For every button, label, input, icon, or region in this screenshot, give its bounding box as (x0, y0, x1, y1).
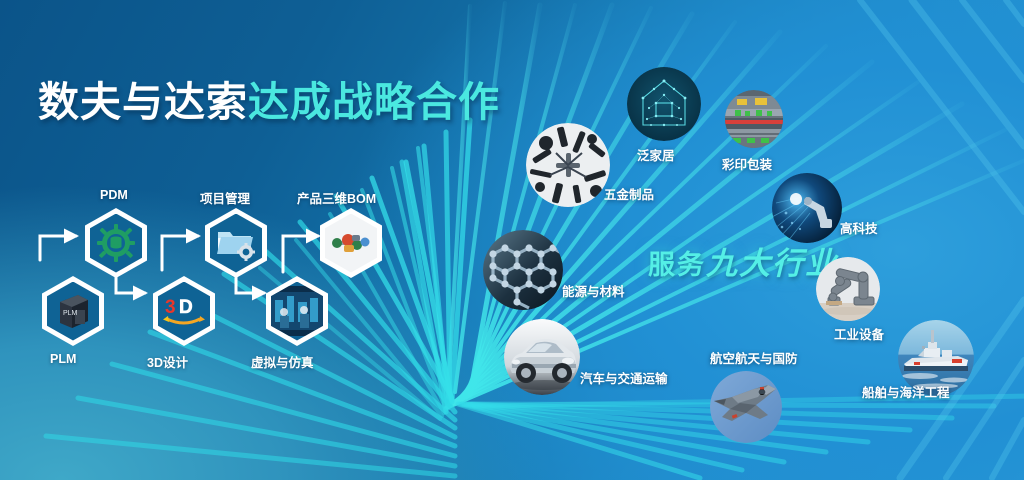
industry-circle-printing[interactable] (725, 90, 783, 148)
industry-label-hightech: 高科技 (840, 218, 878, 237)
flow-label-project-management: 项目管理 (200, 188, 250, 207)
svg-text:D: D (179, 297, 193, 318)
fighter-jet-icon (710, 371, 782, 443)
gear-database-icon (96, 223, 136, 263)
flow-label-plm: PLM (50, 352, 76, 366)
car-suv-icon (504, 319, 580, 395)
industry-label-marine: 船舶与海洋工程 (862, 382, 950, 401)
folder-gear-icon (215, 224, 257, 262)
svg-text:3: 3 (165, 297, 176, 318)
industry-circle-hardware[interactable] (526, 123, 610, 207)
flow-label-simulation: 虚拟与仿真 (251, 352, 314, 371)
assembly-3d-icon (328, 227, 374, 259)
industry-label-printing: 彩印包装 (722, 154, 772, 173)
molecular-lattice-icon (483, 230, 563, 310)
industries-slogan: 服务九大行业 (648, 238, 838, 283)
industry-label-energy: 能源与材料 (562, 281, 625, 300)
server-cube-icon: PLM (52, 290, 94, 332)
industry-circle-aerospace[interactable] (710, 371, 782, 443)
flow-label-3d: 3D设计 (147, 352, 188, 371)
svg-text:PLM: PLM (63, 310, 78, 317)
industry-label-equipment: 工业设备 (834, 324, 884, 343)
industry-label-aerospace: 航空航天与国防 (710, 348, 798, 367)
industry-circle-automotive[interactable] (504, 319, 580, 395)
industry-circle-home[interactable] (627, 67, 701, 141)
hardware-tools-icon (526, 123, 610, 207)
high-tech-robotics-icon (772, 173, 842, 243)
simulation-photo-icon (271, 286, 323, 336)
slogan-prefix: 服务 (648, 250, 706, 280)
robotic-arm-icon (816, 257, 880, 321)
industry-label-home: 泛家居 (637, 145, 675, 164)
printing-press-icon (725, 90, 783, 148)
industry-circle-equipment[interactable] (816, 257, 880, 321)
smart-home-network-icon (627, 67, 701, 141)
promo-banner: 数夫与达索达成战略合作 (0, 0, 1024, 480)
industry-label-automotive: 汽车与交通运输 (580, 368, 668, 387)
industry-label-hardware: 五金制品 (604, 184, 654, 203)
flow-label-bom: 产品三维BOM (297, 188, 376, 207)
plm-process-flow: PLM PLM (0, 0, 440, 400)
industry-circle-energy[interactable] (483, 230, 563, 310)
flow-label-pdm: PDM (100, 188, 128, 202)
industry-circle-hightech[interactable] (772, 173, 842, 243)
3d-logo-icon: 3 D (162, 294, 206, 328)
